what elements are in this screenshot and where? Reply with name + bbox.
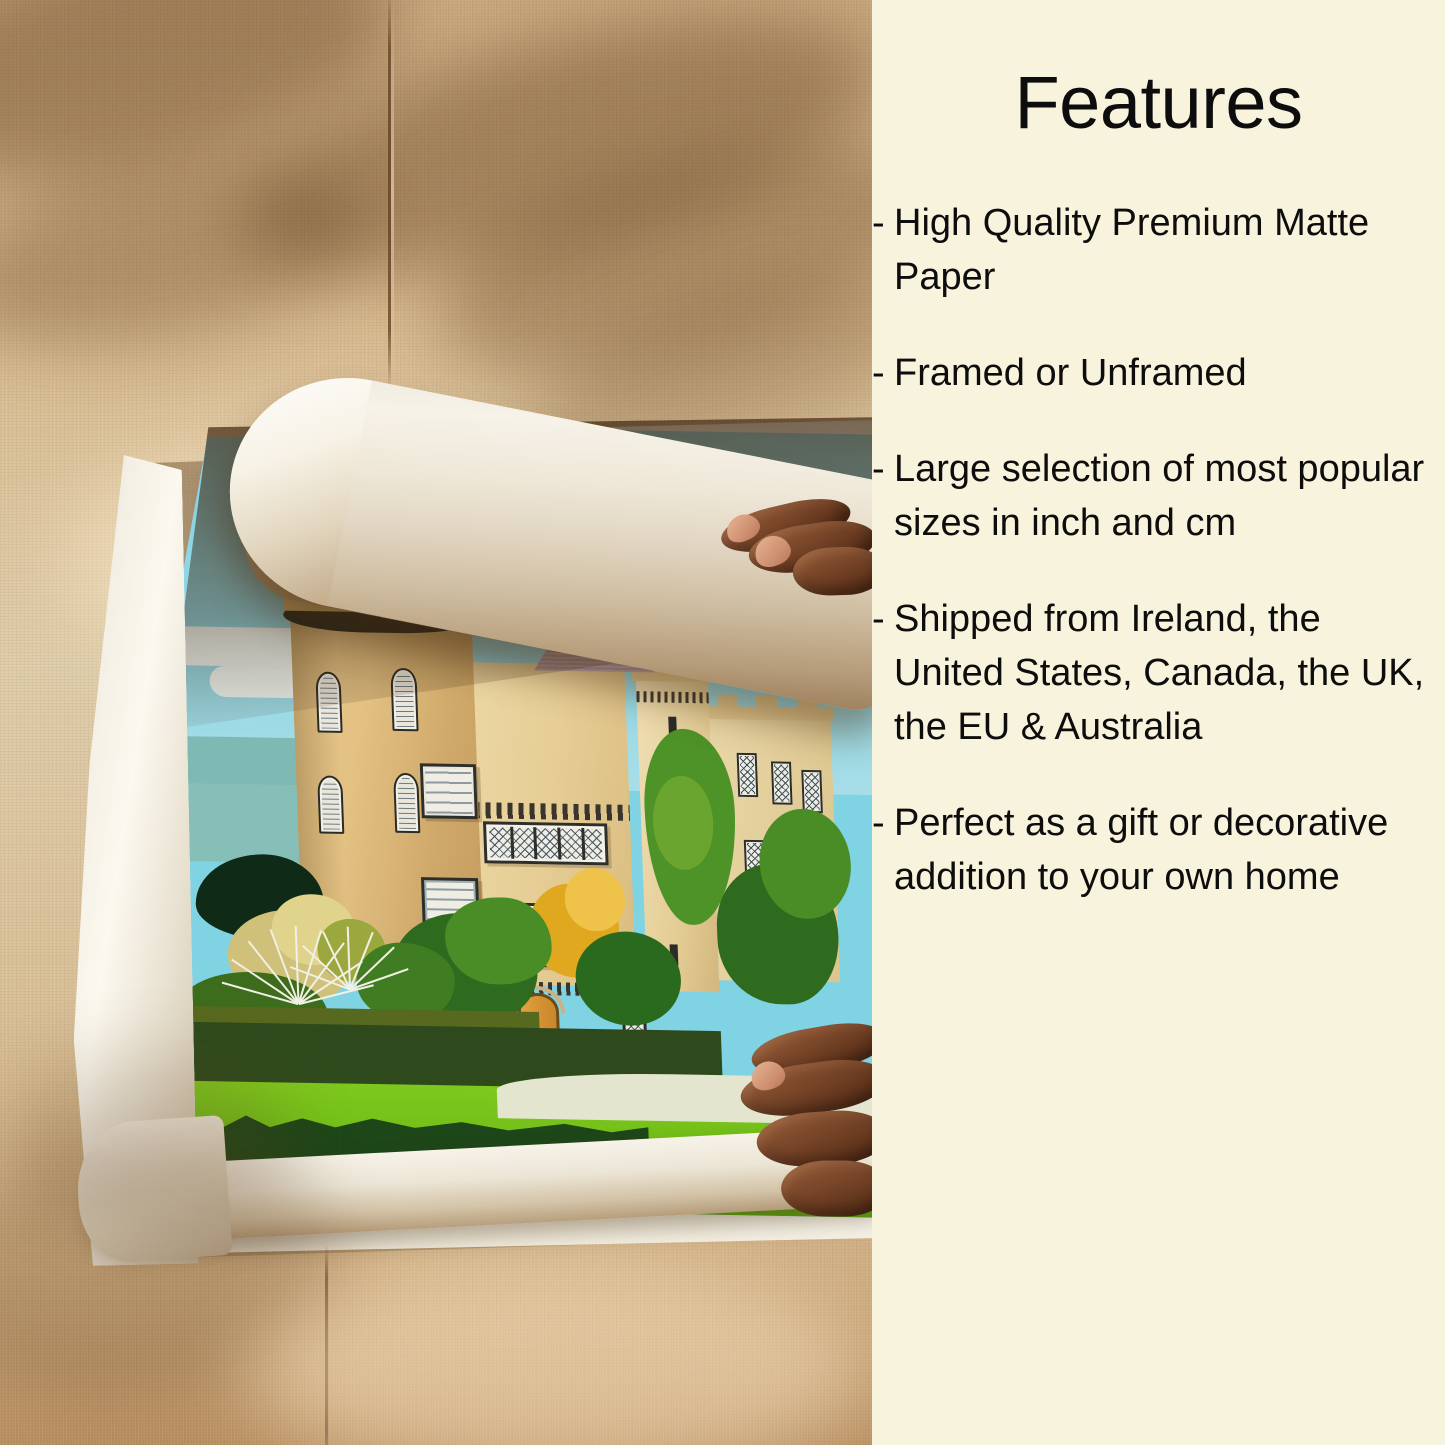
feature-list: - High Quality Premium Matte Paper - Fra… xyxy=(868,196,1433,946)
page-title: Features xyxy=(872,66,1445,140)
poster-mockup-photo xyxy=(0,0,872,1445)
product-listing-image: Features - High Quality Premium Matte Pa… xyxy=(0,0,1445,1445)
bottom-hand xyxy=(709,1012,872,1223)
plank-seam-highlight xyxy=(391,0,394,390)
bullet-dash: - xyxy=(872,442,894,496)
gothic-window xyxy=(317,776,345,834)
window xyxy=(737,753,758,796)
bullet-dash: - xyxy=(872,346,894,400)
sash-window xyxy=(420,763,478,819)
feature-text: Shipped from Ireland, the United States,… xyxy=(894,592,1433,754)
shadow-blob xyxy=(0,1050,300,1230)
window xyxy=(771,762,792,805)
bullet-dash: - xyxy=(872,196,894,250)
bullet-dash: - xyxy=(872,592,894,646)
finger xyxy=(781,1161,872,1217)
gothic-window xyxy=(315,672,343,734)
corbel-course xyxy=(637,691,709,703)
features-panel: Features - High Quality Premium Matte Pa… xyxy=(872,0,1445,1445)
gothic-window xyxy=(393,773,421,833)
feature-text: High Quality Premium Matte Paper xyxy=(894,196,1433,304)
feature-text: Perfect as a gift or decorative addition… xyxy=(894,796,1433,904)
list-item: - Framed or Unframed xyxy=(868,346,1433,400)
feature-text: Framed or Unframed xyxy=(894,346,1433,400)
top-hand xyxy=(698,477,872,615)
feature-text: Large selection of most popular sizes in… xyxy=(894,442,1433,550)
battlement-course xyxy=(463,802,630,821)
list-item: - Large selection of most popular sizes … xyxy=(868,442,1433,550)
list-item: - Shipped from Ireland, the United State… xyxy=(868,592,1433,754)
list-item: - Perfect as a gift or decorative additi… xyxy=(868,796,1433,904)
mullioned-window xyxy=(483,821,609,865)
bullet-dash: - xyxy=(872,796,894,850)
gothic-window xyxy=(390,668,418,731)
window xyxy=(802,770,823,813)
list-item: - High Quality Premium Matte Paper xyxy=(868,196,1433,304)
